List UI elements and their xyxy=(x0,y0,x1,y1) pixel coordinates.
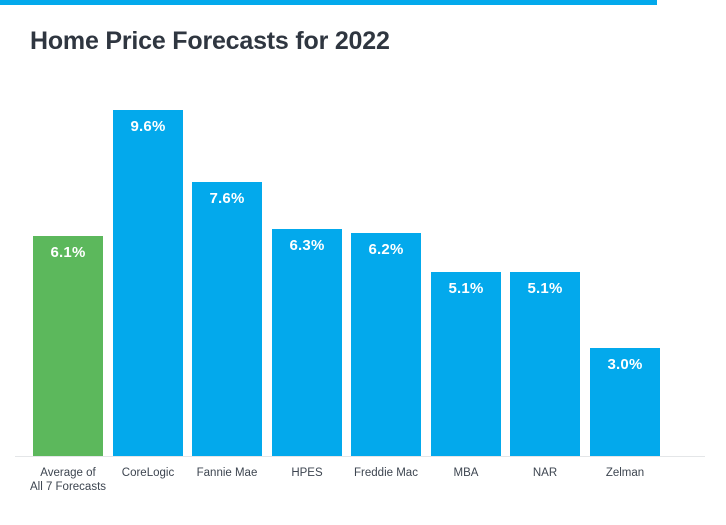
bar-column[interactable]: 6.3% xyxy=(272,229,342,456)
bar-column[interactable]: 9.6% xyxy=(113,110,183,456)
bar-column[interactable]: 6.2% xyxy=(351,233,421,456)
x-axis-tick-label: Average ofAll 7 Forecasts xyxy=(23,466,113,494)
bar-hpes[interactable]: 6.3% xyxy=(272,229,342,456)
tick-label-line-1: Fannie Mae xyxy=(182,466,272,480)
page-title: Home Price Forecasts for 2022 xyxy=(30,27,390,56)
bar-value-label: 3.0% xyxy=(590,356,660,373)
x-axis-tick-label: Zelman xyxy=(580,466,670,480)
bar-column[interactable]: 7.6% xyxy=(192,182,262,456)
tick-label-line-1: NAR xyxy=(500,466,590,480)
bar-value-label: 5.1% xyxy=(510,280,580,297)
bar-column[interactable]: 5.1% xyxy=(510,272,580,456)
slide-canvas: Home Price Forecasts for 2022 6.1%Averag… xyxy=(0,0,726,525)
bar-value-label: 5.1% xyxy=(431,280,501,297)
top-accent-bar xyxy=(0,0,657,5)
bar-freddie-mac[interactable]: 6.2% xyxy=(351,233,421,456)
bar-fannie-mae[interactable]: 7.6% xyxy=(192,182,262,456)
tick-label-line-1: MBA xyxy=(421,466,511,480)
tick-label-line-1: HPES xyxy=(262,466,352,480)
bar-zelman[interactable]: 3.0% xyxy=(590,348,660,456)
bar-nar[interactable]: 5.1% xyxy=(510,272,580,456)
tick-label-line-1: Average of xyxy=(23,466,113,480)
bar-value-label: 6.3% xyxy=(272,237,342,254)
bar-value-label: 6.1% xyxy=(33,244,103,261)
bar-value-label: 6.2% xyxy=(351,241,421,258)
tick-label-line-1: Freddie Mac xyxy=(341,466,431,480)
bar-corelogic[interactable]: 9.6% xyxy=(113,110,183,456)
bar-column[interactable]: 5.1% xyxy=(431,272,501,456)
x-axis-tick-label: NAR xyxy=(500,466,590,480)
bar-value-label: 9.6% xyxy=(113,118,183,135)
x-axis-tick-label: HPES xyxy=(262,466,352,480)
x-axis-tick-label: Freddie Mac xyxy=(341,466,431,480)
tick-label-line-1: Zelman xyxy=(580,466,670,480)
x-axis-tick-label: MBA xyxy=(421,466,511,480)
x-axis-tick-label: Fannie Mae xyxy=(182,466,272,480)
tick-label-line-2: All 7 Forecasts xyxy=(23,480,113,494)
bar-average-of-all-7-forecasts[interactable]: 6.1% xyxy=(33,236,103,456)
bar-mba[interactable]: 5.1% xyxy=(431,272,501,456)
x-axis-tick-label: CoreLogic xyxy=(103,466,193,480)
bar-column[interactable]: 3.0% xyxy=(590,348,660,456)
bar-column[interactable]: 6.1% xyxy=(33,236,103,456)
tick-label-line-1: CoreLogic xyxy=(103,466,193,480)
bar-value-label: 7.6% xyxy=(192,190,262,207)
